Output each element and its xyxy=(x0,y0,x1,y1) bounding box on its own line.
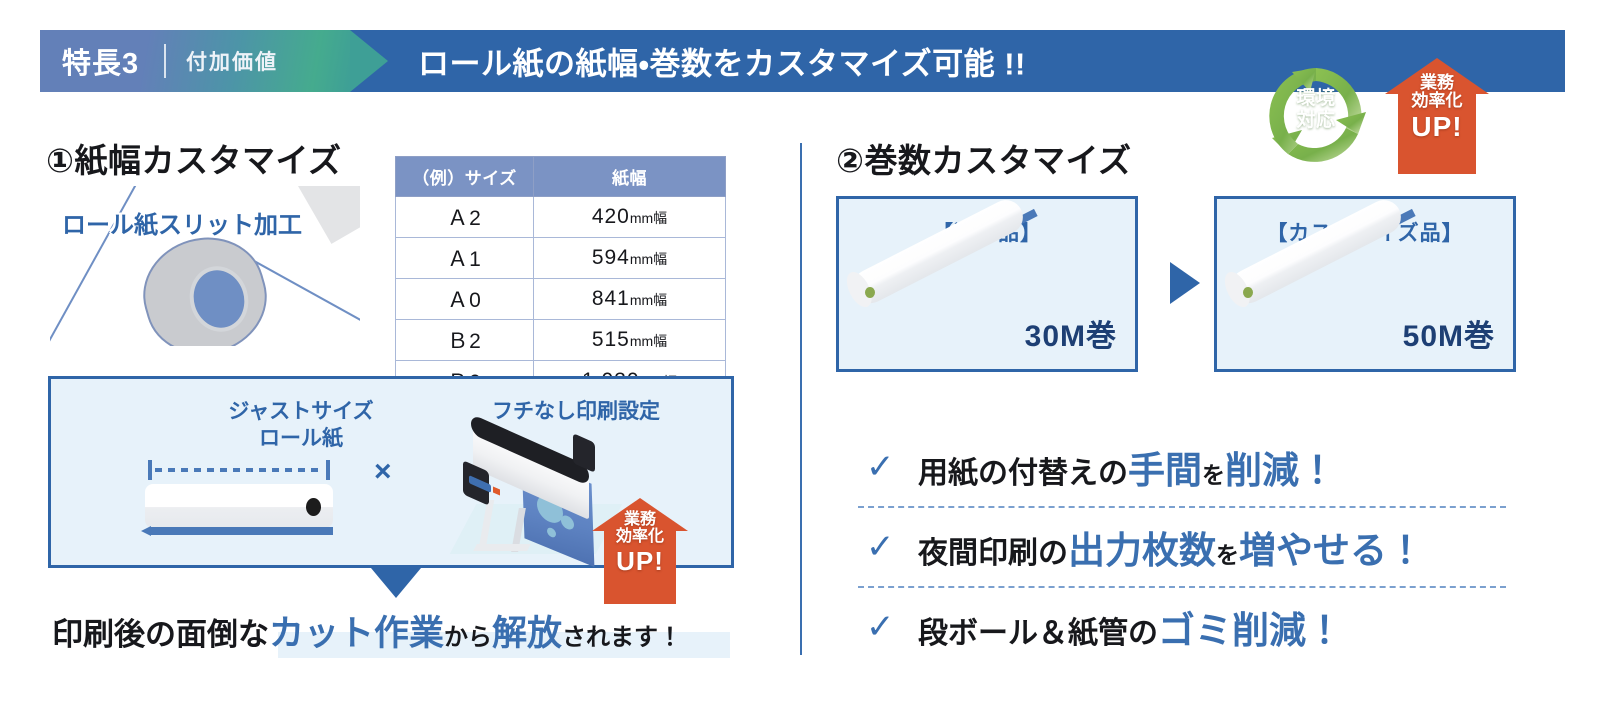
up-badge-line1: 業務 xyxy=(592,512,688,529)
cell-width: 841mm幅 xyxy=(534,279,726,320)
benefit-highlight: 出力枚数 xyxy=(1068,530,1216,571)
rollbox-customized: 【カスタマイズ品】 50M巻 xyxy=(1214,196,1516,372)
benefit-row: ✓夜間印刷の出力枚数を増やせる！ xyxy=(858,506,1506,586)
up-badge-line2: 効率化 xyxy=(1385,92,1489,110)
benefit-mid: を xyxy=(1216,542,1239,568)
right-arrow-icon xyxy=(1170,262,1200,304)
table-row: Ａ2420mm幅 xyxy=(396,197,726,238)
up-badge-text: 業務 効率化 UP! xyxy=(592,512,688,575)
table-header-width: 紙幅 xyxy=(534,157,726,197)
header-divider xyxy=(164,44,166,78)
conclusion-post: されます！ xyxy=(562,624,682,651)
benefit-pre: 用紙の付替えの xyxy=(918,457,1128,490)
cell-size: Ａ1 xyxy=(396,238,534,279)
paper-size-table: （例）サイズ 紙幅 Ａ2420mm幅Ａ1594mm幅Ａ0841mm幅Ｂ2515m… xyxy=(395,156,726,402)
table-row: Ａ0841mm幅 xyxy=(396,279,726,320)
efficiency-up-badge-right: 業務 効率化 UP! xyxy=(1385,58,1489,174)
multiply-sign: × xyxy=(374,455,392,489)
page-title: ロール紙の紙幅・巻数をカスタマイズ可能 !! xyxy=(418,39,1026,84)
cell-size: Ａ0 xyxy=(396,279,534,320)
rollbox-standard: 【通常品】 30M巻 xyxy=(836,196,1138,372)
check-icon: ✓ xyxy=(858,450,918,484)
conclusion-mid: から xyxy=(444,624,492,651)
conclusion-highlight-2: 解放 xyxy=(492,614,562,653)
benefit-highlight-2: 増やせる！ xyxy=(1239,530,1424,571)
table-header-size: （例）サイズ xyxy=(396,157,534,197)
up-badge-text: 業務 効率化 UP! xyxy=(1385,74,1489,142)
right-section-heading: ②巻数カスタマイズ xyxy=(836,134,1131,182)
cell-width-value: 515 xyxy=(592,328,630,351)
benefit-text: 夜間印刷の出力枚数を増やせる！ xyxy=(918,520,1424,574)
down-arrow-icon xyxy=(371,568,421,598)
left-conclusion-text: 印刷後の面倒なカット作業から解放されます！ xyxy=(52,605,682,656)
benefit-text: 用紙の付替えの手間を削減！ xyxy=(918,440,1336,494)
cell-width: 420mm幅 xyxy=(534,197,726,238)
benefit-highlight-2: 削減！ xyxy=(1225,450,1336,491)
eco-badge-line2: 対応 xyxy=(1296,110,1335,131)
benefit-pre: 段ボール＆紙管の xyxy=(918,617,1158,650)
justsize-title-line2: ロール紙 xyxy=(259,427,343,450)
up-badge-line1: 業務 xyxy=(1385,74,1489,92)
table-row: Ｂ2515mm幅 xyxy=(396,320,726,361)
eco-badge-line1: 環境 xyxy=(1296,88,1335,109)
width-measure-ruler-icon xyxy=(148,460,330,480)
cell-width: 515mm幅 xyxy=(534,320,726,361)
rollbox-standard-length: 30M巻 xyxy=(1025,311,1117,355)
up-arrow-house-icon: 業務 効率化 UP! xyxy=(592,498,688,604)
efficiency-up-badge-left: 業務 効率化 UP! xyxy=(592,498,688,604)
table-header-row: （例）サイズ 紙幅 xyxy=(396,157,726,197)
benefit-highlight: ゴミ削減！ xyxy=(1158,610,1343,651)
cell-size: Ａ2 xyxy=(396,197,534,238)
cell-width-unit: mm幅 xyxy=(630,292,667,308)
cell-width-unit: mm幅 xyxy=(630,251,667,267)
up-arrow-house-icon: 業務 効率化 UP! xyxy=(1385,58,1489,174)
rollbox-customized-length: 50M巻 xyxy=(1403,311,1495,355)
header-feature-label: 特長3 xyxy=(62,40,139,82)
justsize-title-line1: ジャストサイズ xyxy=(228,400,373,423)
check-icon: ✓ xyxy=(858,610,918,644)
eco-badge-text: 環境 対応 xyxy=(1262,88,1370,131)
conclusion-highlight-1: カット作業 xyxy=(269,614,444,653)
benefit-mid: を xyxy=(1202,462,1225,488)
column-divider xyxy=(800,143,802,655)
poster-canvas: 特長3 付加価値 ロール紙の紙幅・巻数をカスタマイズ可能 !! 環境 対応 xyxy=(0,0,1605,721)
up-badge-line3: UP! xyxy=(592,548,688,576)
benefit-list: ✓用紙の付替えの手間を削減！✓夜間印刷の出力枚数を増やせる！✓段ボール＆紙管のゴ… xyxy=(858,428,1506,666)
slit-process-caption: ロール紙スリット加工 xyxy=(62,205,302,240)
cell-width: 594mm幅 xyxy=(534,238,726,279)
benefit-row: ✓段ボール＆紙管のゴミ削減！ xyxy=(858,586,1506,666)
cell-width-value: 841 xyxy=(592,287,630,310)
header-sub-label: 付加価値 xyxy=(186,46,278,76)
large-format-printer-illustration xyxy=(455,436,615,561)
cell-width-unit: mm幅 xyxy=(630,210,667,226)
up-badge-line3: UP! xyxy=(1385,112,1489,142)
benefit-highlight: 手間 xyxy=(1128,450,1202,491)
left-section-heading: ①紙幅カスタマイズ xyxy=(46,134,341,182)
check-icon: ✓ xyxy=(858,530,918,564)
roll-paper-illustration xyxy=(145,484,333,534)
conclusion-pre: 印刷後の面倒な xyxy=(52,617,269,652)
table-row: Ａ1594mm幅 xyxy=(396,238,726,279)
eco-badge: 環境 対応 xyxy=(1262,62,1370,170)
justsize-title: ジャストサイズ ロール紙 xyxy=(191,399,411,453)
up-badge-line2: 効率化 xyxy=(592,529,688,546)
benefit-text: 段ボール＆紙管のゴミ削減！ xyxy=(918,600,1343,654)
cell-width-value: 594 xyxy=(592,246,630,269)
benefit-row: ✓用紙の付替えの手間を削減！ xyxy=(858,428,1506,506)
benefit-pre: 夜間印刷の xyxy=(918,537,1068,570)
cell-width-unit: mm幅 xyxy=(630,333,667,349)
cell-size: Ｂ2 xyxy=(396,320,534,361)
cell-width-value: 420 xyxy=(592,205,630,228)
